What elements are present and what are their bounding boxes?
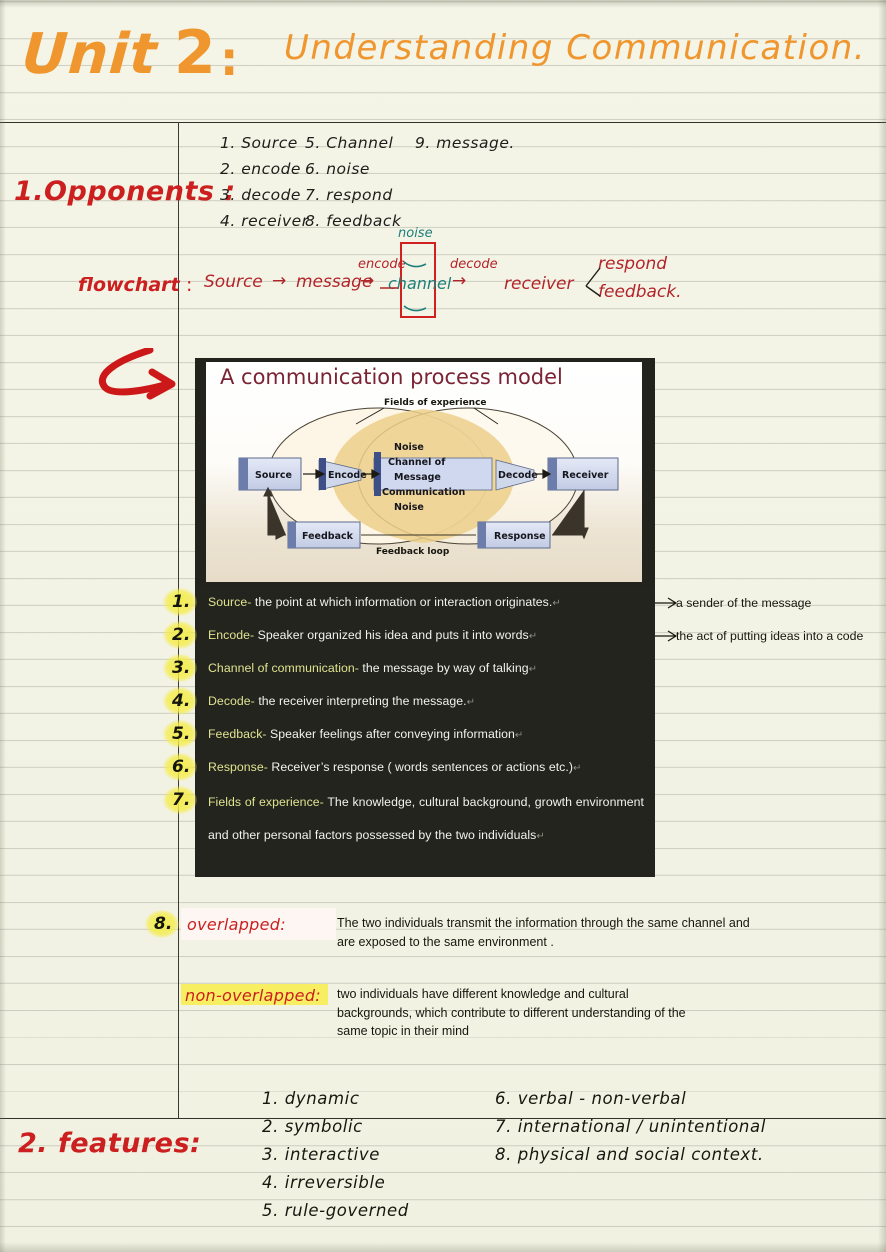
overlapped-label: overlapped: <box>187 915 286 934</box>
feature-item: 8. physical and social context. <box>495 1141 766 1169</box>
definition-line: Fields of experience- The knowledge, cul… <box>208 786 644 853</box>
definition-line: Feedback- Speaker feelings after conveyi… <box>208 727 644 741</box>
definition-text: Speaker organized his idea and puts it i… <box>258 628 529 642</box>
feature-item: 7. international / unintentional <box>495 1113 766 1141</box>
features-right-column: 6. verbal - non-verbal 7. international … <box>495 1085 766 1169</box>
pilcrow-mark: ↵ <box>467 697 475 708</box>
svg-text:Feedback: Feedback <box>302 531 354 542</box>
pilcrow-mark: ↵ <box>573 763 581 774</box>
red-pointer-arrow-icon <box>92 348 192 400</box>
term-cell: 1. Source <box>220 130 305 156</box>
margin-number: 7. <box>172 790 190 810</box>
definition-term: Decode- <box>208 694 255 708</box>
page-edge-shadow-left <box>0 0 6 1252</box>
overlapped-paragraph: The two individuals transmit the informa… <box>337 914 757 951</box>
non-overlapped-label: non-overlapped: <box>185 986 321 1005</box>
term-cell: 6. noise <box>305 156 415 182</box>
svg-text:Message: Message <box>394 472 441 483</box>
svg-text:Feedback loop: Feedback loop <box>376 547 450 557</box>
opponents-term-list: 1. Source5. Channel9. message. 2. encode… <box>220 130 640 234</box>
feature-item: 2. symbolic <box>262 1113 409 1141</box>
svg-text:Communication: Communication <box>382 487 465 498</box>
pilcrow-mark: ↵ <box>515 730 523 741</box>
definition-term: Encode- <box>208 628 254 642</box>
svg-text:Decode: Decode <box>498 470 538 481</box>
definition-text: the point at which information or intera… <box>255 595 552 609</box>
feature-item: 3. interactive <box>262 1141 409 1169</box>
definition-line: Decode- the receiver interpreting the me… <box>208 694 644 708</box>
title-colon: : <box>220 32 238 86</box>
definition-line: Channel of communication- the message by… <box>208 661 644 675</box>
feature-item: 4. irreversible <box>262 1169 409 1197</box>
svg-text:Source: Source <box>255 470 292 481</box>
term-row: 3. decode7. respond <box>220 182 640 208</box>
non-overlapped-paragraph: two individuals have different knowledge… <box>337 985 697 1041</box>
margin-number: 2. <box>172 625 190 645</box>
definition-term: Fields of experience- <box>208 795 324 809</box>
diagram-graphics: Fields of experience Source Encode Noise <box>206 362 642 582</box>
margin-number: 8. <box>154 914 172 934</box>
margin-number: 5. <box>172 724 190 744</box>
pilcrow-mark: ↵ <box>529 664 537 675</box>
section-features-label: 2. features: <box>18 1128 201 1159</box>
svg-text:Noise: Noise <box>394 442 424 453</box>
annotation-text: the act of putting ideas into a code <box>676 629 863 643</box>
margin-number: 1. <box>172 592 190 612</box>
pilcrow-mark: ↵ <box>529 631 537 642</box>
term-cell: 7. respond <box>305 182 415 208</box>
definition-line: Response- Receiver’s response ( words se… <box>208 760 644 774</box>
page-title: Unit 2 : Understanding Communication. <box>22 14 882 94</box>
features-left-column: 1. dynamic 2. symbolic 3. interactive 4.… <box>262 1085 409 1225</box>
definition-term: Feedback- <box>208 727 267 741</box>
annotation-text: a sender of the message <box>676 596 811 610</box>
definition-line: Source- the point at which information o… <box>208 595 644 609</box>
flow-label-noise: noise <box>398 226 433 241</box>
term-cell: 4. receiver <box>220 208 305 234</box>
title-subtitle: Understanding Communication. <box>284 28 866 68</box>
definition-term: Channel of communication- <box>208 661 359 675</box>
definitions-block: Source- the point at which information o… <box>195 586 655 877</box>
definition-text: Speaker feelings after conveying informa… <box>270 727 515 741</box>
handwritten-flowchart: flowchart : Source → message encode → no… <box>0 248 886 328</box>
term-row: 2. encode6. noise <box>220 156 640 182</box>
svg-text:Noise: Noise <box>394 502 424 513</box>
definition-line: Encode- Speaker organized his idea and p… <box>208 628 644 642</box>
term-cell: 5. Channel <box>305 130 415 156</box>
header-divider-rule <box>0 122 886 123</box>
svg-text:Fields of experience: Fields of experience <box>384 398 487 408</box>
feature-item: 5. rule-governed <box>262 1197 409 1225</box>
svg-text:Channel of: Channel of <box>388 457 446 468</box>
pilcrow-mark: ↵ <box>536 831 544 842</box>
section-opponents-label: 1.Opponents : <box>14 176 236 207</box>
page-edge-shadow-bottom <box>0 1242 886 1252</box>
svg-text:Encode: Encode <box>328 470 367 481</box>
term-cell: 2. encode <box>220 156 305 182</box>
feature-item: 6. verbal - non-verbal <box>495 1085 766 1113</box>
page-edge-shadow-top <box>0 0 886 8</box>
svg-text:Response: Response <box>494 531 546 542</box>
title-unit-word: Unit <box>20 22 160 87</box>
definition-text: the message by way of talking <box>362 661 528 675</box>
flow-branch-lines <box>0 248 886 328</box>
page-edge-shadow-right <box>878 0 886 1252</box>
definition-term: Response- <box>208 760 268 774</box>
pilcrow-mark: ↵ <box>552 598 560 609</box>
definition-term: Source- <box>208 595 251 609</box>
embedded-slide-image: A communication process model Fields of … <box>195 358 655 586</box>
definition-text: the receiver interpreting the message. <box>258 694 466 708</box>
term-row: 1. Source5. Channel9. message. <box>220 130 640 156</box>
feature-item: 1. dynamic <box>262 1085 409 1113</box>
term-cell: 3. decode <box>220 182 305 208</box>
communication-model-diagram: A communication process model Fields of … <box>206 362 642 582</box>
term-cell: 9. message. <box>415 130 515 156</box>
margin-number: 4. <box>172 691 190 711</box>
title-unit-number: 2 <box>174 18 216 88</box>
definition-text: Receiver’s response ( words sentences or… <box>271 760 573 774</box>
margin-number: 6. <box>172 757 190 777</box>
margin-number: 3. <box>172 658 190 678</box>
notebook-page: Unit 2 : Understanding Communication. 1.… <box>0 0 886 1252</box>
svg-text:Receiver: Receiver <box>562 470 609 481</box>
